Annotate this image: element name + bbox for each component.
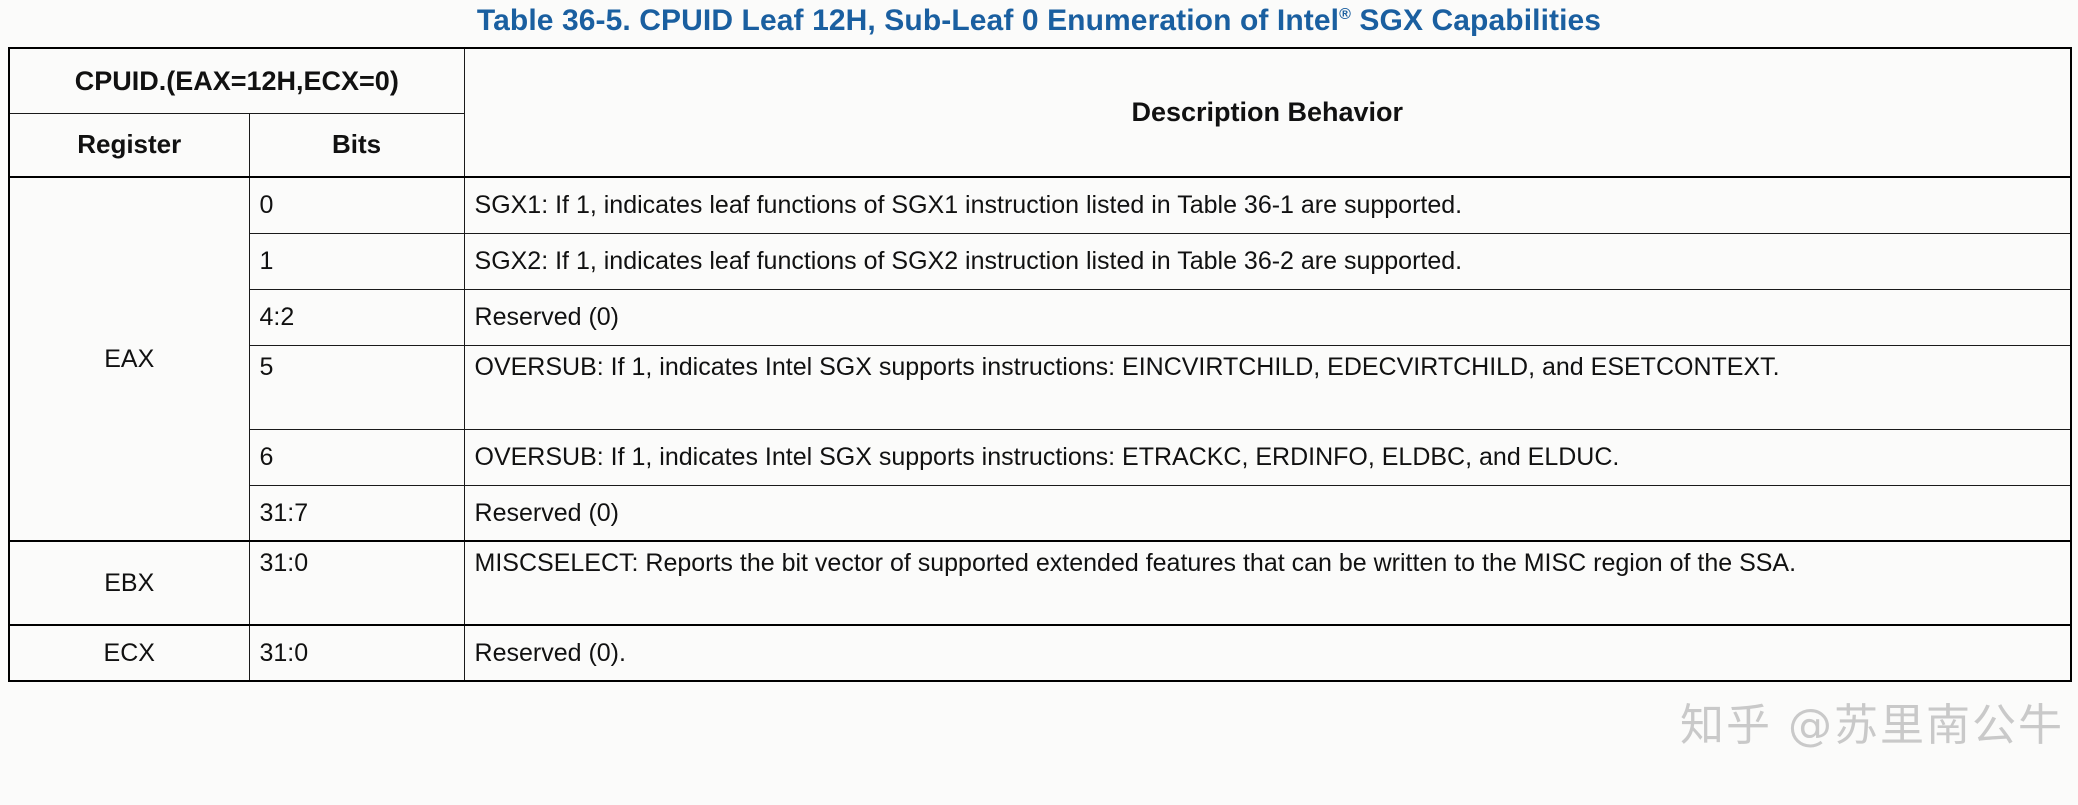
table-header-row-group: CPUID.(EAX=12H,ECX=0) Description Behavi… bbox=[9, 48, 2071, 114]
cell-register-ecx: ECX bbox=[9, 625, 249, 681]
cell-bits: 31:0 bbox=[249, 625, 464, 681]
watermark: 知乎 @苏里南公牛 bbox=[1680, 689, 2064, 753]
registered-trademark-icon: ® bbox=[1339, 6, 1351, 23]
cell-description: MISCSELECT: Reports the bit vector of su… bbox=[464, 541, 2071, 625]
cell-description: Reserved (0). bbox=[464, 625, 2071, 681]
sgx-capabilities-table: CPUID.(EAX=12H,ECX=0) Description Behavi… bbox=[8, 47, 2072, 682]
title-text-prefix: Table 36-5. CPUID Leaf 12H, Sub-Leaf 0 E… bbox=[477, 4, 1339, 37]
table-header: CPUID.(EAX=12H,ECX=0) Description Behavi… bbox=[9, 48, 2071, 177]
column-group-header-cpuid: CPUID.(EAX=12H,ECX=0) bbox=[9, 48, 464, 114]
table-row: 1 SGX2: If 1, indicates leaf functions o… bbox=[9, 233, 2071, 289]
cell-bits: 5 bbox=[249, 345, 464, 429]
cell-description: Reserved (0) bbox=[464, 289, 2071, 345]
title-text-suffix: SGX Capabilities bbox=[1351, 4, 1601, 37]
cell-bits: 4:2 bbox=[249, 289, 464, 345]
table-row: 31:7 Reserved (0) bbox=[9, 485, 2071, 541]
column-header-description: Description Behavior bbox=[464, 48, 2071, 177]
column-header-register: Register bbox=[9, 114, 249, 178]
table-row: 5 OVERSUB: If 1, indicates Intel SGX sup… bbox=[9, 345, 2071, 429]
cell-description: SGX1: If 1, indicates leaf functions of … bbox=[464, 177, 2071, 233]
document-page: Table 36-5. CPUID Leaf 12H, Sub-Leaf 0 E… bbox=[0, 0, 2078, 805]
table-body: EAX 0 SGX1: If 1, indicates leaf functio… bbox=[9, 177, 2071, 681]
cell-bits: 0 bbox=[249, 177, 464, 233]
cell-description: SGX2: If 1, indicates leaf functions of … bbox=[464, 233, 2071, 289]
sgx-capabilities-table-wrapper: CPUID.(EAX=12H,ECX=0) Description Behavi… bbox=[8, 47, 2070, 682]
column-header-bits: Bits bbox=[249, 114, 464, 178]
table-row: 4:2 Reserved (0) bbox=[9, 289, 2071, 345]
table-row: EAX 0 SGX1: If 1, indicates leaf functio… bbox=[9, 177, 2071, 233]
cell-register-ebx: EBX bbox=[9, 541, 249, 625]
table-row: EBX 31:0 MISCSELECT: Reports the bit vec… bbox=[9, 541, 2071, 625]
cell-description: Reserved (0) bbox=[464, 485, 2071, 541]
cell-bits: 6 bbox=[249, 429, 464, 485]
cell-bits: 31:0 bbox=[249, 541, 464, 625]
cell-bits: 1 bbox=[249, 233, 464, 289]
cell-description: OVERSUB: If 1, indicates Intel SGX suppo… bbox=[464, 345, 2071, 429]
cell-register-eax: EAX bbox=[9, 177, 249, 541]
cell-description: OVERSUB: If 1, indicates Intel SGX suppo… bbox=[464, 429, 2071, 485]
page-title: Table 36-5. CPUID Leaf 12H, Sub-Leaf 0 E… bbox=[0, 4, 2078, 38]
cell-bits: 31:7 bbox=[249, 485, 464, 541]
table-row: ECX 31:0 Reserved (0). bbox=[9, 625, 2071, 681]
table-row: 6 OVERSUB: If 1, indicates Intel SGX sup… bbox=[9, 429, 2071, 485]
